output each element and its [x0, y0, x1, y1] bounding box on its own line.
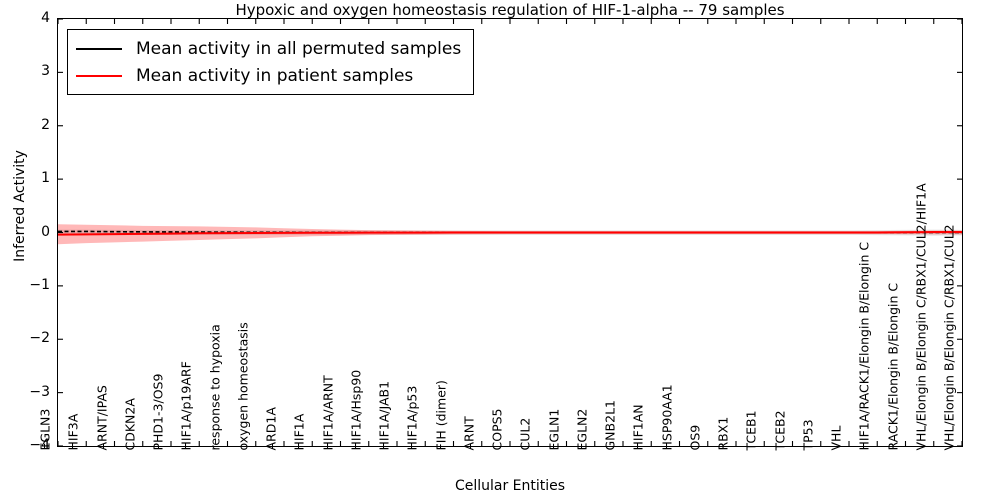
chart-title: Hypoxic and oxygen homeostasis regulatio…: [57, 1, 963, 19]
x-tick-label: EGLN3: [40, 408, 53, 450]
legend-entry: Mean activity in patient samples: [76, 62, 461, 89]
legend-swatch-permuted: [76, 48, 122, 50]
y-tick-label: 4: [12, 11, 50, 25]
legend-swatch-patient: [76, 75, 122, 77]
legend-label-permuted: Mean activity in all permuted samples: [136, 39, 461, 59]
legend-entry: Mean activity in all permuted samples: [76, 35, 461, 62]
y-tick-label: −3: [12, 385, 50, 399]
legend-label-patient: Mean activity in patient samples: [136, 66, 413, 86]
y-tick-label: −2: [12, 331, 50, 345]
legend: Mean activity in all permuted samples Me…: [67, 29, 474, 95]
y-tick-label: 3: [12, 64, 50, 78]
y-tick-label: −4: [12, 438, 50, 452]
y-axis-label: Inferred Activity: [12, 106, 28, 306]
figure-canvas: Hypoxic and oxygen homeostasis regulatio…: [0, 0, 1000, 500]
x-axis-label: Cellular Entities: [57, 478, 963, 494]
